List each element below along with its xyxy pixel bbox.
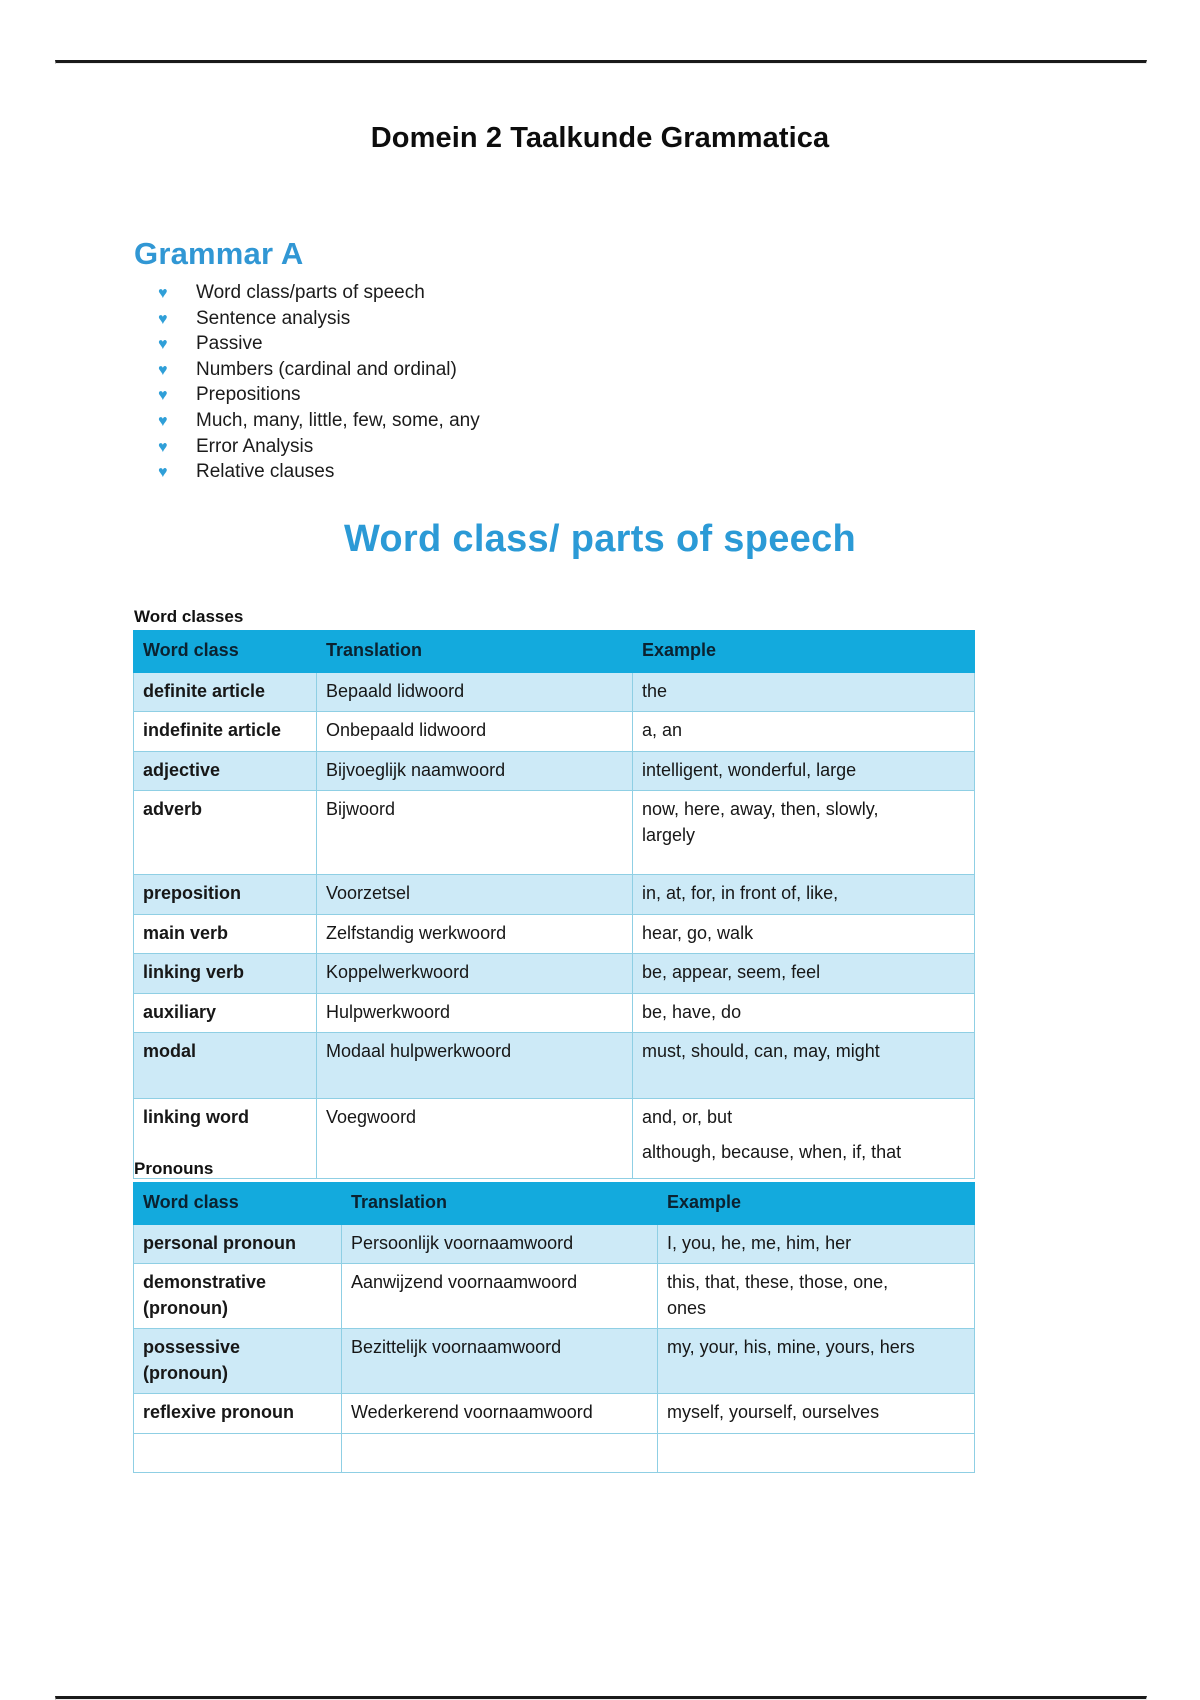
list-item-label: Prepositions: [196, 384, 301, 406]
cell-translation: Bezittelijk voornaamwoord: [342, 1329, 658, 1394]
cell-example-line: and, or, but: [642, 1105, 965, 1131]
cell-word-class-line: demonstrative: [143, 1270, 332, 1296]
table-row: possessive (pronoun) Bezittelijk voornaa…: [134, 1329, 975, 1394]
list-item: ♥ Passive: [158, 333, 858, 359]
cell-word-class-line: (pronoun): [143, 1361, 332, 1387]
cell-word-class: adjective: [134, 751, 317, 791]
table-row: adjective Bijvoeglijk naamwoord intellig…: [134, 751, 975, 791]
list-item-label: Numbers (cardinal and ordinal): [196, 359, 457, 381]
heart-bullet-icon: ♥: [158, 388, 196, 404]
cell-word-class: linking verb: [134, 954, 317, 994]
cell-translation: Persoonlijk voornaamwoord: [342, 1224, 658, 1264]
header-rule-top: [55, 60, 1147, 64]
cell-empty: [658, 1433, 975, 1473]
cell-translation: Onbepaald lidwoord: [317, 712, 633, 752]
cell-translation: Wederkerend voornaamwoord: [342, 1394, 658, 1434]
column-header-translation: Translation: [317, 631, 633, 673]
cell-translation: Zelfstandig werkwoord: [317, 914, 633, 954]
heart-bullet-icon: ♥: [158, 465, 196, 481]
cell-translation: Bepaald lidwoord: [317, 672, 633, 712]
cell-example: be, have, do: [633, 993, 975, 1033]
table-row: linking word Voegwoord and, or, but alth…: [134, 1099, 975, 1179]
list-item-label: Much, many, little, few, some, any: [196, 410, 480, 432]
list-item: ♥ Numbers (cardinal and ordinal): [158, 359, 858, 385]
cell-word-class: adverb: [134, 791, 317, 875]
table-row: main verb Zelfstandig werkwoord hear, go…: [134, 914, 975, 954]
cell-translation: Modaal hulpwerkwoord: [317, 1033, 633, 1099]
table-header-row: Word class Translation Example: [134, 1183, 975, 1225]
main-heading-word-class: Word class/ parts of speech: [0, 518, 1200, 561]
heart-bullet-icon: ♥: [158, 312, 196, 328]
cell-example: the: [633, 672, 975, 712]
table-row: auxiliary Hulpwerkwoord be, have, do: [134, 993, 975, 1033]
table-row: linking verb Koppelwerkwoord be, appear,…: [134, 954, 975, 994]
pronouns-caption: Pronouns: [134, 1159, 213, 1179]
cell-example: hear, go, walk: [633, 914, 975, 954]
column-header-example: Example: [633, 631, 975, 673]
cell-example: a, an: [633, 712, 975, 752]
table-row: adverb Bijwoord now, here, away, then, s…: [134, 791, 975, 875]
cell-translation: Koppelwerkwoord: [317, 954, 633, 994]
cell-word-class: reflexive pronoun: [134, 1394, 342, 1434]
table-row: demonstrative (pronoun) Aanwijzend voorn…: [134, 1264, 975, 1329]
cell-word-class: demonstrative (pronoun): [134, 1264, 342, 1329]
heart-bullet-icon: ♥: [158, 440, 196, 456]
cell-empty: [342, 1433, 658, 1473]
page-title: Domein 2 Taalkunde Grammatica: [0, 122, 1200, 155]
list-item-label: Passive: [196, 333, 263, 355]
cell-example: this, that, these, those, one, ones: [658, 1264, 975, 1329]
cell-example: in, at, for, in front of, like,: [633, 875, 975, 915]
list-item: ♥ Error Analysis: [158, 436, 858, 462]
cell-empty: [134, 1433, 342, 1473]
column-header-translation: Translation: [342, 1183, 658, 1225]
list-item: ♥ Sentence analysis: [158, 308, 858, 334]
cell-word-class: indefinite article: [134, 712, 317, 752]
cell-example: and, or, but although, because, when, if…: [633, 1099, 975, 1179]
table-row: definite article Bepaald lidwoord the: [134, 672, 975, 712]
heart-bullet-icon: ♥: [158, 363, 196, 379]
table-row: preposition Voorzetsel in, at, for, in f…: [134, 875, 975, 915]
list-item: ♥ Prepositions: [158, 384, 858, 410]
heart-bullet-icon: ♥: [158, 337, 196, 353]
cell-word-class: preposition: [134, 875, 317, 915]
list-item: ♥ Much, many, little, few, some, any: [158, 410, 858, 436]
table-header-row: Word class Translation Example: [134, 631, 975, 673]
table-row: modal Modaal hulpwerkwoord must, should,…: [134, 1033, 975, 1099]
cell-example-line: largely: [642, 823, 965, 849]
cell-example-line: now, here, away, then, slowly,: [642, 797, 965, 823]
list-item-label: Word class/parts of speech: [196, 282, 425, 304]
pronouns-table: Word class Translation Example personal …: [133, 1182, 975, 1473]
cell-translation: Aanwijzend voornaamwoord: [342, 1264, 658, 1329]
column-header-word-class: Word class: [134, 1183, 342, 1225]
cell-example: now, here, away, then, slowly, largely: [633, 791, 975, 875]
list-item: ♥ Word class/parts of speech: [158, 282, 858, 308]
cell-word-class: personal pronoun: [134, 1224, 342, 1264]
cell-spacer: [642, 1131, 965, 1140]
section-heading-grammar-a: Grammar A: [134, 236, 304, 272]
cell-example: I, you, he, me, him, her: [658, 1224, 975, 1264]
table-row: personal pronoun Persoonlijk voornaamwoo…: [134, 1224, 975, 1264]
table-row: indefinite article Onbepaald lidwoord a,…: [134, 712, 975, 752]
heart-bullet-icon: ♥: [158, 414, 196, 430]
document-page: Domein 2 Taalkunde Grammatica Grammar A …: [0, 0, 1200, 1700]
cell-example: myself, yourself, ourselves: [658, 1394, 975, 1434]
cell-word-class: possessive (pronoun): [134, 1329, 342, 1394]
cell-translation: Bijwoord: [317, 791, 633, 875]
column-header-word-class: Word class: [134, 631, 317, 673]
cell-example-line: this, that, these, those, one,: [667, 1270, 965, 1296]
footer-rule-bottom: [55, 1696, 1147, 1700]
cell-word-class-line: possessive: [143, 1335, 332, 1361]
cell-example-line: ones: [667, 1296, 965, 1322]
list-item-label: Error Analysis: [196, 436, 313, 458]
list-item-label: Sentence analysis: [196, 308, 350, 330]
cell-example: must, should, can, may, might: [633, 1033, 975, 1099]
table-row-filler: [134, 1433, 975, 1473]
cell-word-class: definite article: [134, 672, 317, 712]
cell-example-line: although, because, when, if, that: [642, 1140, 965, 1166]
cell-word-class: main verb: [134, 914, 317, 954]
grammar-topics-list: ♥ Word class/parts of speech ♥ Sentence …: [158, 282, 858, 487]
word-classes-caption: Word classes: [134, 607, 243, 627]
cell-translation: Hulpwerkwoord: [317, 993, 633, 1033]
cell-example: my, your, his, mine, yours, hers: [658, 1329, 975, 1394]
cell-word-class: modal: [134, 1033, 317, 1099]
cell-word-class: auxiliary: [134, 993, 317, 1033]
list-item-label: Relative clauses: [196, 461, 334, 483]
heart-bullet-icon: ♥: [158, 286, 196, 302]
cell-word-class-line: (pronoun): [143, 1296, 332, 1322]
table-row: reflexive pronoun Wederkerend voornaamwo…: [134, 1394, 975, 1434]
cell-example: be, appear, seem, feel: [633, 954, 975, 994]
cell-translation: Voegwoord: [317, 1099, 633, 1179]
list-item: ♥ Relative clauses: [158, 461, 858, 487]
cell-example: intelligent, wonderful, large: [633, 751, 975, 791]
column-header-example: Example: [658, 1183, 975, 1225]
cell-translation: Voorzetsel: [317, 875, 633, 915]
word-classes-table: Word class Translation Example definite …: [133, 630, 975, 1179]
cell-translation: Bijvoeglijk naamwoord: [317, 751, 633, 791]
